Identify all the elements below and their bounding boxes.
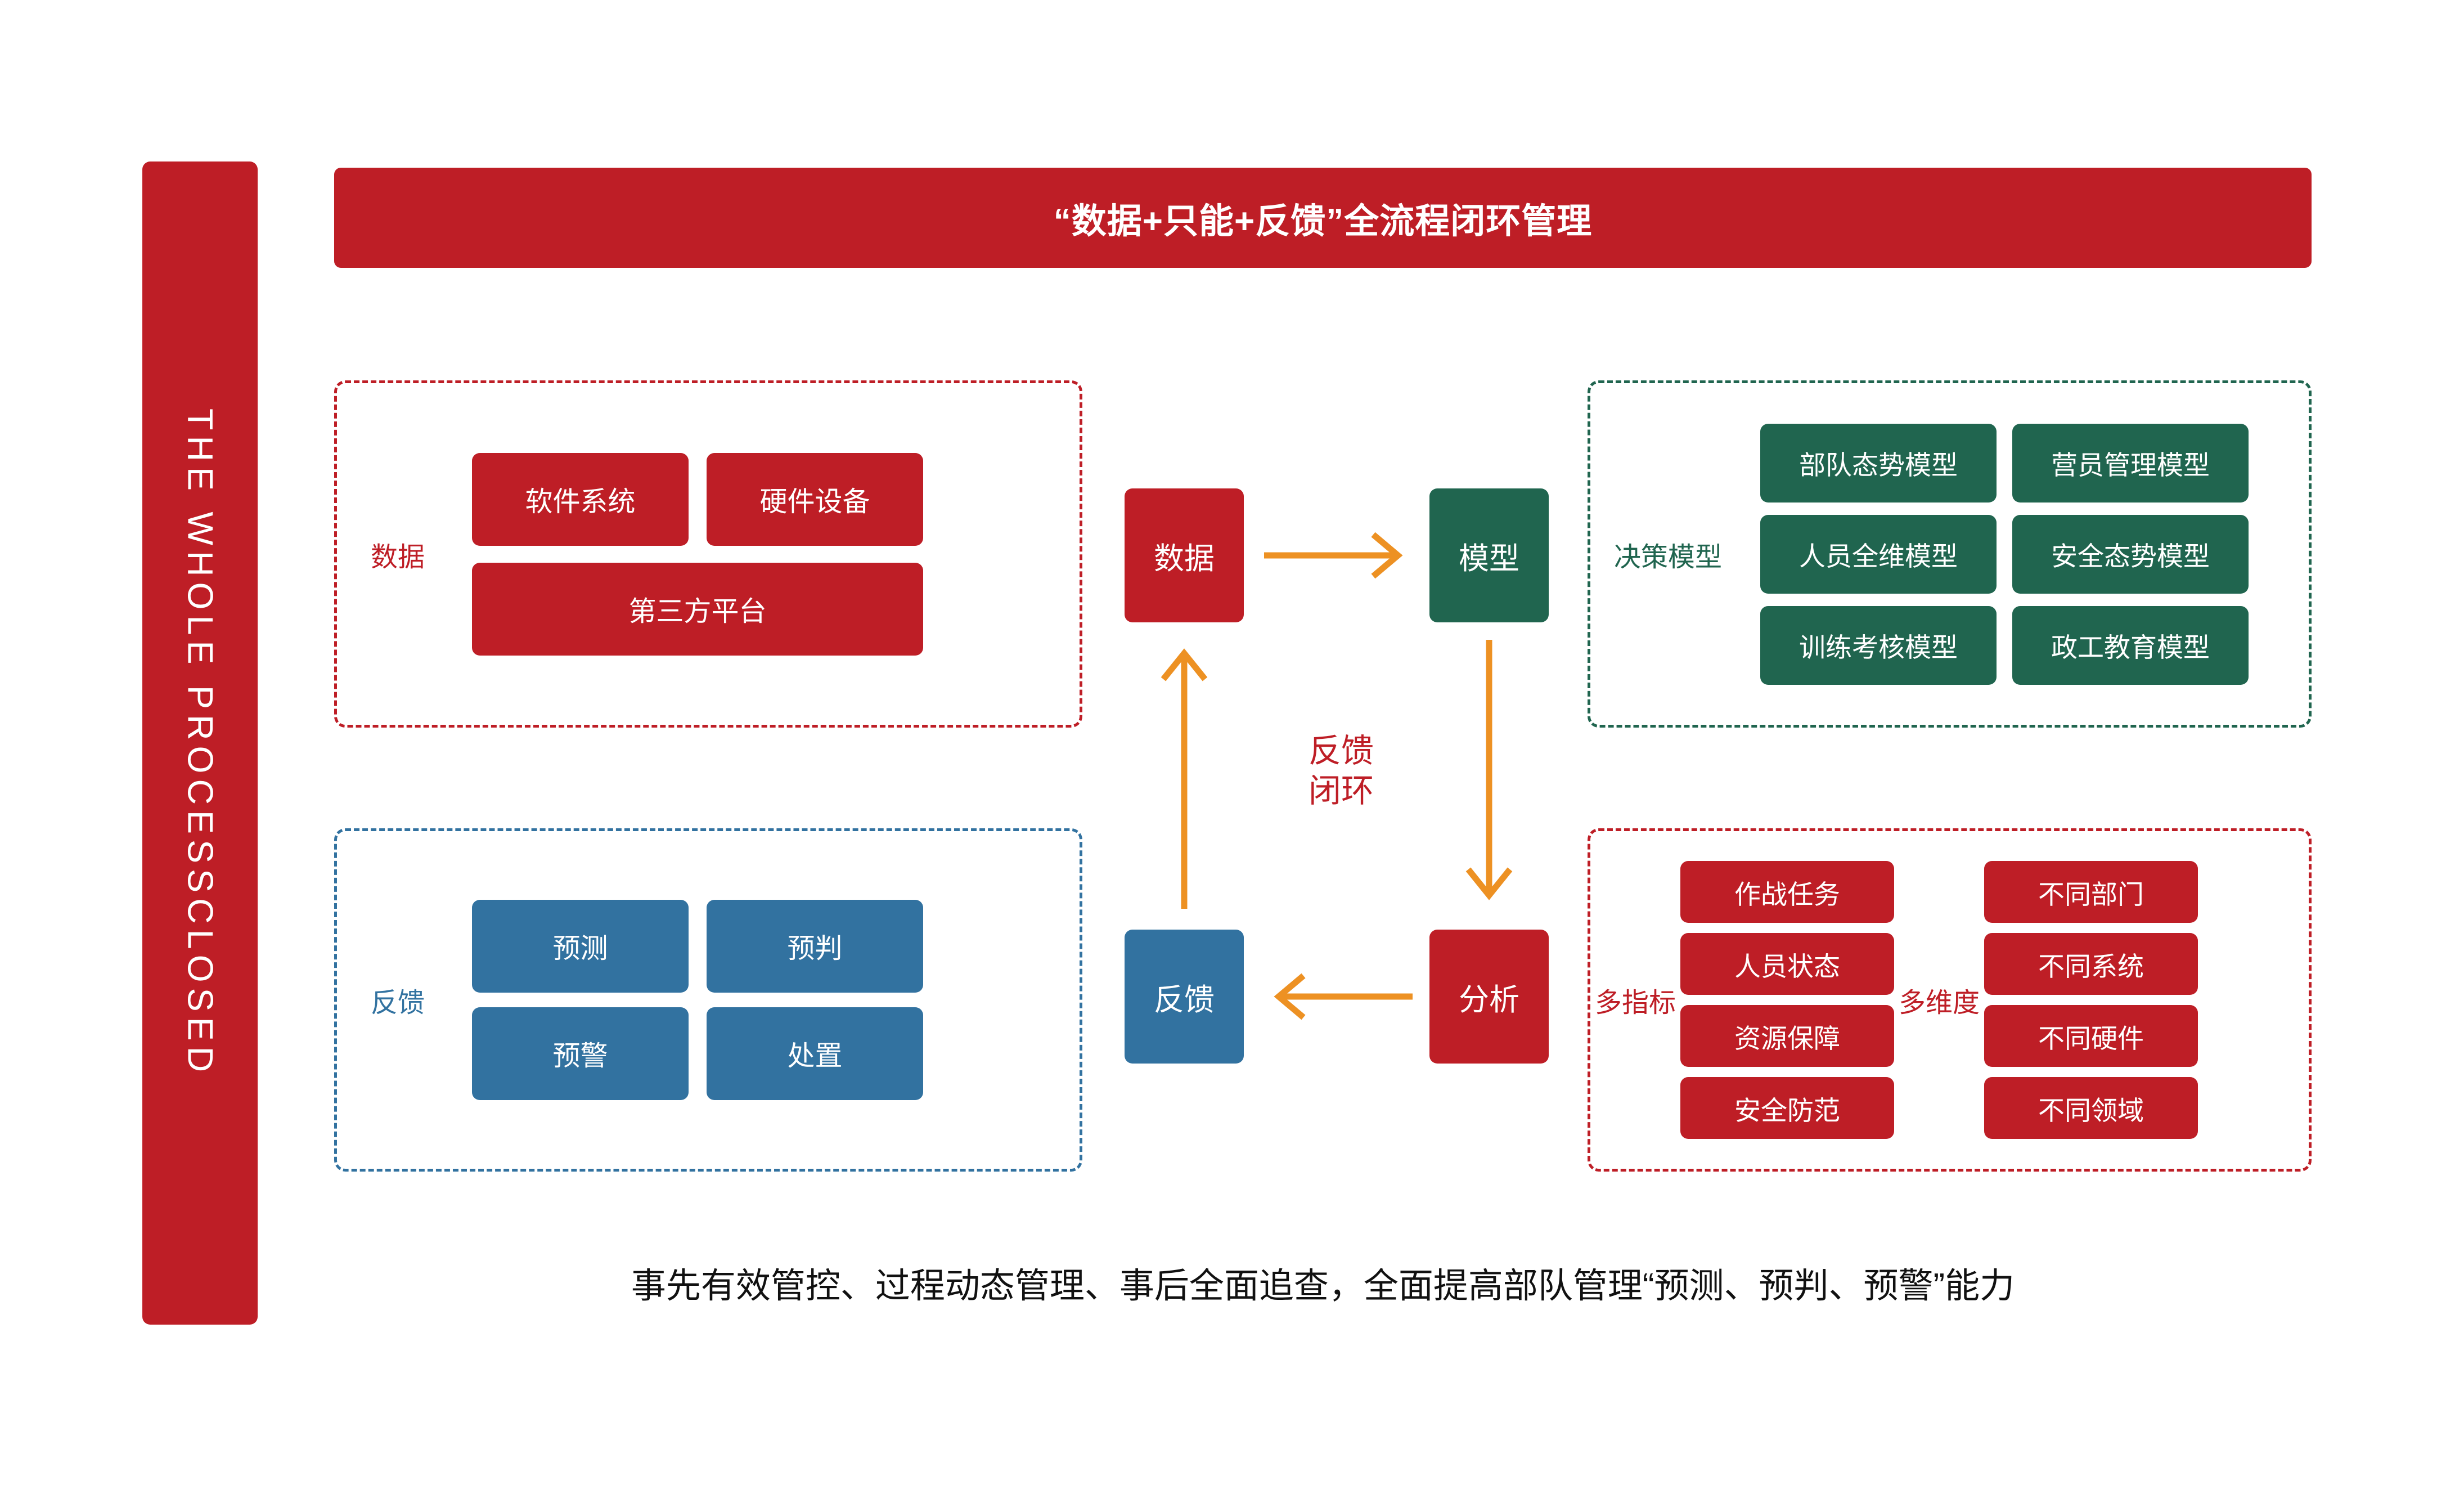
tile-row: 人员全维模型 安全态势模型 <box>1760 515 2309 594</box>
tile-row: 部队态势模型 营员管理模型 <box>1760 424 2309 503</box>
panel-data: 数据 软件系统 硬件设备 第三方平台 <box>334 380 1082 728</box>
panel-metrics-dimensions: 多指标 作战任务 人员状态 资源保障 安全防范 多维度 不同部门 不同系统 不同… <box>1588 828 2312 1172</box>
panel-multi-dimension-label: 多维度 <box>1894 980 1984 1020</box>
multi-indicator-column: 作战任务 人员状态 资源保障 安全防范 <box>1680 861 1894 1139</box>
panel-decision-model: 决策模型 部队态势模型 营员管理模型 人员全维模型 安全态势模型 训练考核模型 … <box>1588 380 2312 728</box>
tile-row: 预测 预判 <box>472 900 1080 993</box>
cycle-node-model[interactable]: 模型 <box>1429 488 1549 622</box>
tile-safety-prevention[interactable]: 安全防范 <box>1680 1077 1894 1139</box>
loop-label-line1: 反馈 <box>1265 732 1417 771</box>
arrow-up-icon <box>1152 639 1216 910</box>
tile-personnel-full-dimension-model[interactable]: 人员全维模型 <box>1760 515 1997 594</box>
tile-personnel-status[interactable]: 人员状态 <box>1680 933 1894 995</box>
panel-feedback-tiles: 预测 预判 预警 处置 <box>455 900 1080 1100</box>
tile-hardware-device[interactable]: 硬件设备 <box>707 453 923 546</box>
panel-feedback: 反馈 预测 预判 预警 处置 <box>334 828 1082 1172</box>
panel-data-label: 数据 <box>371 535 455 574</box>
cycle-node-data[interactable]: 数据 <box>1125 488 1244 622</box>
page-title: “数据+只能+反馈”全流程闭环管理 <box>1054 192 1592 243</box>
arrow-down-icon <box>1457 639 1521 910</box>
tile-forecast[interactable]: 预测 <box>472 900 689 993</box>
panel-data-tiles: 软件系统 硬件设备 第三方平台 <box>455 453 1080 656</box>
tile-camp-management-model[interactable]: 营员管理模型 <box>2012 424 2249 503</box>
tile-combat-mission[interactable]: 作战任务 <box>1680 861 1894 923</box>
tile-row: 第三方平台 <box>472 563 1080 656</box>
tile-political-education-model[interactable]: 政工教育模型 <box>2012 606 2249 685</box>
tile-different-department[interactable]: 不同部门 <box>1984 861 2198 923</box>
side-banner: THE WHOLE PROCESSCLOSED <box>142 161 258 1325</box>
tile-different-system[interactable]: 不同系统 <box>1984 933 2198 995</box>
arrow-left-icon <box>1263 964 1414 1029</box>
cycle-node-feedback[interactable]: 反馈 <box>1125 930 1244 1064</box>
metrics-columns: 多指标 作战任务 人员状态 资源保障 安全防范 多维度 不同部门 不同系统 不同… <box>1590 831 2309 1169</box>
panel-multi-indicator-label: 多指标 <box>1590 980 1680 1020</box>
side-banner-label: THE WHOLE PROCESSCLOSED <box>180 409 221 1078</box>
cycle-node-analysis[interactable]: 分析 <box>1429 930 1549 1064</box>
diagram-canvas: THE WHOLE PROCESSCLOSED “数据+只能+反馈”全流程闭环管… <box>0 0 2464 1494</box>
tile-training-assessment-model[interactable]: 训练考核模型 <box>1760 606 1997 685</box>
loop-label: 反馈 闭环 <box>1265 732 1417 811</box>
title-banner: “数据+只能+反馈”全流程闭环管理 <box>334 168 2312 268</box>
panel-decision-model-label: 决策模型 <box>1614 535 1755 574</box>
tile-disposal[interactable]: 处置 <box>707 1007 923 1100</box>
tile-resource-support[interactable]: 资源保障 <box>1680 1005 1894 1067</box>
tile-safety-situation-model[interactable]: 安全态势模型 <box>2012 515 2249 594</box>
loop-label-line2: 闭环 <box>1265 771 1417 811</box>
tile-software-system[interactable]: 软件系统 <box>472 453 689 546</box>
tile-row: 训练考核模型 政工教育模型 <box>1760 606 2309 685</box>
panel-feedback-label: 反馈 <box>371 980 455 1020</box>
tile-third-party-platform[interactable]: 第三方平台 <box>472 563 923 656</box>
tile-different-domain[interactable]: 不同领域 <box>1984 1077 2198 1139</box>
bottom-caption: 事先有效管控、过程动态管理、事后全面追查，全面提高部队管理“预测、预判、预警”能… <box>334 1257 2312 1308</box>
arrow-right-icon <box>1263 523 1414 587</box>
multi-dimension-column: 不同部门 不同系统 不同硬件 不同领域 <box>1984 861 2198 1139</box>
tile-troop-situation-model[interactable]: 部队态势模型 <box>1760 424 1997 503</box>
panel-decision-model-tiles: 部队态势模型 营员管理模型 人员全维模型 安全态势模型 训练考核模型 政工教育模… <box>1755 424 2309 685</box>
tile-row: 预警 处置 <box>472 1007 1080 1100</box>
tile-prejudgement[interactable]: 预判 <box>707 900 923 993</box>
tile-row: 软件系统 硬件设备 <box>472 453 1080 546</box>
tile-different-hardware[interactable]: 不同硬件 <box>1984 1005 2198 1067</box>
tile-early-warning[interactable]: 预警 <box>472 1007 689 1100</box>
